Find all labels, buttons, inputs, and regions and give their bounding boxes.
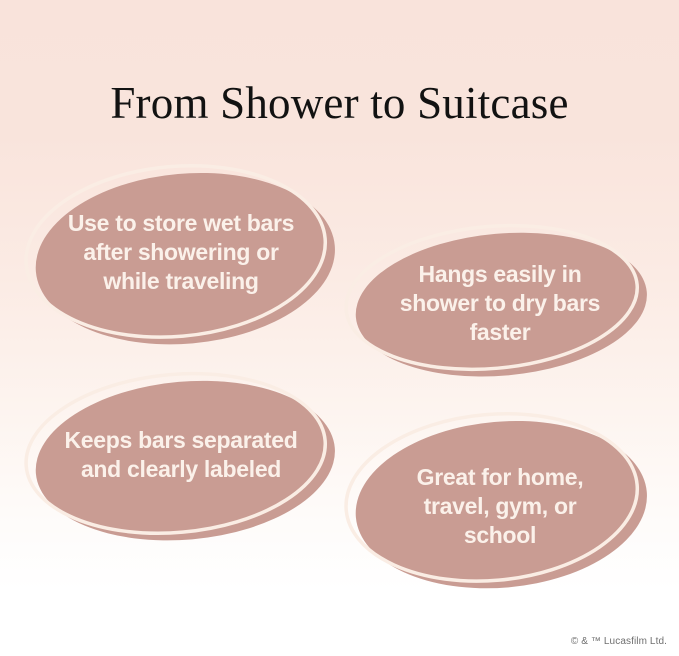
- ellipse-shape-1: [22, 160, 340, 350]
- benefit-bubble-2: Hangs easily in shower to dry bars faste…: [344, 222, 650, 380]
- benefit-bubble-4: Great for home, travel, gym, or school: [344, 408, 650, 594]
- infographic-canvas: From Shower to Suitcase Use to store wet…: [0, 0, 679, 656]
- benefit-bubble-group: Use to store wet bars after showering or…: [0, 0, 679, 656]
- benefit-bubble-1: Use to store wet bars after showering or…: [22, 160, 340, 350]
- ellipse-shape-4: [344, 408, 650, 594]
- ellipse-shape-3: [22, 368, 340, 546]
- copyright-notice: © & ™ Lucasfilm Ltd.: [571, 635, 667, 648]
- ellipse-shape-2: [344, 222, 650, 380]
- benefit-bubble-3: Keeps bars separated and clearly labeled: [22, 368, 340, 546]
